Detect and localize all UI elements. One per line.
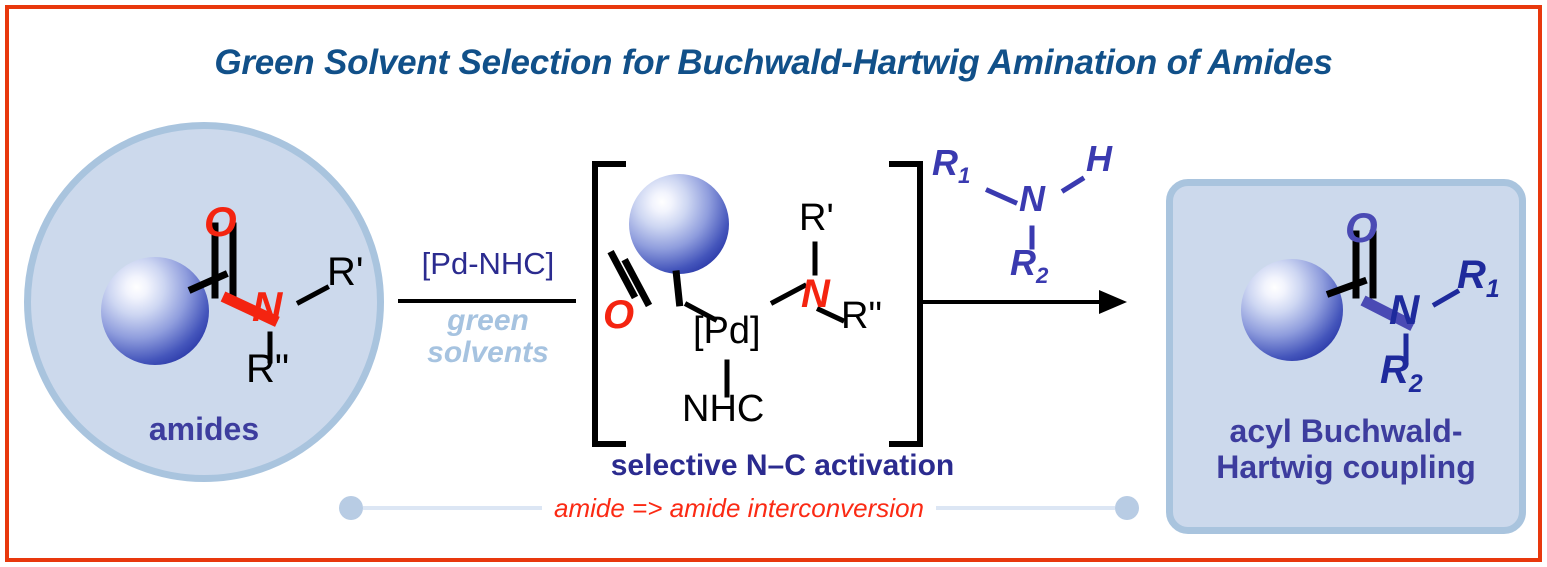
solvent-label-line1: green [397,305,579,337]
amine-n-r2-bond [1030,226,1035,250]
figure-frame: Green Solvent Selection for Buchwald-Har… [5,5,1542,562]
reactant-nitrogen-label: N [252,286,282,328]
caption-headline: selective N–C activation [9,449,1547,483]
product-r2-label: R2 [1380,350,1423,398]
caption-subline: amide => amide interconversion [542,493,936,524]
catalyst-label: [Pd-NHC] [397,246,579,282]
intermediate-r-doubleprime-label: R" [841,297,882,335]
product-r1-label: R1 [1457,255,1500,303]
product-label-line1: acyl Buchwald- [1166,414,1526,450]
intermediate-aryl-sphere [629,174,729,274]
intermediate-r-prime-label: R' [799,199,834,237]
amine-n-r1-bond [985,187,1018,205]
reactant-r-prime-label: R' [327,252,364,292]
amine-reagent: R1 N H R2 [914,139,1144,299]
reactant-aryl-sphere [101,257,209,365]
amine-r1-label: R1 [932,145,970,188]
graphical-abstract: Green Solvent Selection for Buchwald-Har… [0,0,1547,567]
intermediate-aryl-carbonyl-bond [673,270,684,307]
solvent-label: green solvents [397,305,579,370]
amine-r2-label: R2 [1010,245,1048,288]
figure-title: Green Solvent Selection for Buchwald-Har… [9,43,1538,83]
connector-line-right [936,506,1115,510]
solvent-label-line2: solvents [397,337,579,369]
reactant-r-doubleprime-label: R" [246,349,289,389]
connector-dot-right [1115,496,1139,520]
reaction-arrow-2-head [1099,290,1127,314]
product-nitrogen-label: N [1389,289,1419,331]
intermediate-ligand-label: NHC [682,390,764,428]
reaction-arrow-2-line [921,300,1103,304]
intermediate-metal-label: [Pd] [693,312,761,350]
amine-nitrogen-label: N [1019,181,1045,217]
amine-n-h-bond [1061,176,1086,194]
connector-line-left [363,506,542,510]
product-oxygen-label: O [1345,207,1378,249]
reactant-oxygen-label: O [204,201,237,243]
connector-dot-left [339,496,363,520]
amine-hydrogen-label: H [1086,141,1112,177]
caption-subline-row: amide => amide interconversion [339,491,1139,525]
reactant-label: amides [24,411,384,448]
intermediate-nitrogen-label: N [801,274,830,314]
product-aryl-sphere [1241,259,1343,361]
reaction-arrow-1-line [398,299,576,303]
intermediate-n-r1-bond [813,242,818,276]
intermediate-oxygen-label: O [603,295,634,335]
